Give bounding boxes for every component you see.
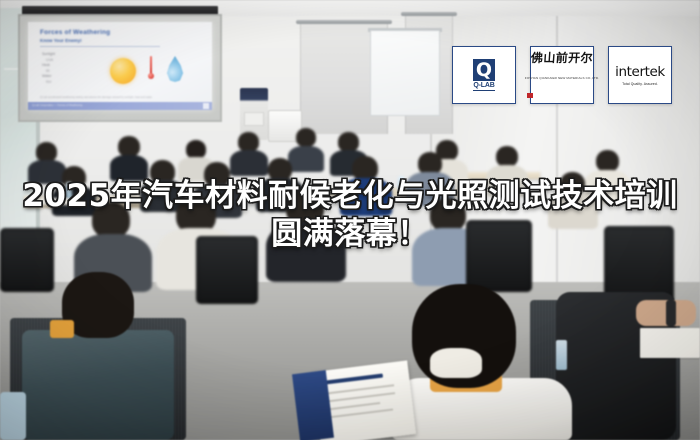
slide-page-number — [203, 103, 209, 109]
handout — [30, 198, 70, 205]
attendee-body — [22, 330, 174, 440]
q-lab-letter: Q — [476, 61, 492, 80]
handout — [640, 328, 700, 358]
handout — [306, 186, 350, 193]
logo-card-q-lab: Q Q-LAB — [452, 46, 516, 104]
water-drop-icon — [166, 56, 184, 82]
sun-icon — [110, 58, 136, 84]
attendee-body — [28, 160, 66, 184]
attendee-head — [338, 132, 359, 152]
office-chair — [466, 220, 532, 292]
slide-bullet: RH — [42, 80, 55, 86]
water-bottle — [66, 182, 72, 198]
wall-seam — [556, 0, 558, 300]
attendee-collar — [50, 320, 74, 338]
attendee-head — [496, 146, 518, 167]
attendee-head — [118, 136, 140, 157]
slide-title: Forces of Weathering — [40, 29, 110, 36]
slide-divider — [40, 46, 160, 47]
intertek-tagline: Total Quality. Assured. — [622, 82, 658, 86]
logo-card-foshan-qiankaier: 佛山前开尔 FOSHAN QIANKAIER NEW MATERIALS CO.… — [530, 46, 594, 104]
wristwatch — [666, 300, 676, 326]
dispenser-panel — [244, 112, 264, 126]
water-bottle — [556, 340, 567, 370]
qiankaier-wordmark-cn: 佛山前开尔 — [530, 49, 593, 66]
attendee-head — [296, 128, 316, 147]
whiteboard — [370, 30, 440, 116]
projected-slide: Forces of Weathering Know Your Enemy! Su… — [28, 22, 212, 110]
attendee-head — [92, 202, 130, 238]
attendee-body — [486, 165, 528, 197]
attendee-head — [238, 132, 259, 152]
office-chair — [196, 236, 258, 304]
water-bottle — [398, 176, 404, 192]
attendee-body — [340, 178, 392, 216]
attendee-head — [36, 142, 57, 162]
intertek-wordmark: intertek — [615, 64, 665, 80]
attendee-body — [230, 150, 268, 176]
attendee-body — [548, 193, 598, 229]
logo-card-intertek: intertek Total Quality. Assured. — [608, 46, 672, 104]
thermometer-icon — [148, 56, 154, 84]
qiankaier-wordmark-en: FOSHAN QIANKAIER NEW MATERIALS CO.,LTD. — [525, 76, 599, 80]
slide-subtitle: Know Your Enemy! — [40, 38, 82, 43]
partner-logo-strip: Q Q-LAB 佛山前开尔 FOSHAN QIANKAIER NEW MATER… — [452, 46, 672, 104]
slide-bullet: Sunlight — [42, 52, 55, 58]
q-lab-wordmark: Q-LAB — [473, 82, 494, 91]
office-chair — [0, 228, 54, 292]
blind-rail — [296, 20, 392, 24]
hair-tie — [430, 348, 482, 378]
slide-bullet-list: Sunlight UVA Heat IR Water RH — [42, 52, 55, 86]
attendee-head — [430, 198, 466, 232]
promo-banner: Forces of Weathering Know Your Enemy! Su… — [0, 0, 700, 440]
blind-rail — [401, 12, 457, 16]
attendee-body — [110, 155, 148, 181]
q-lab-mark-icon: Q — [473, 59, 495, 81]
seal-icon — [527, 93, 533, 98]
slide-footer-text: Q-Lab Corporation — Forces of Weathering — [32, 104, 82, 107]
slide-footer-bar: Q-Lab Corporation — Forces of Weathering — [28, 102, 212, 110]
slide-footnote: Q-Lab accelerated weathering testing rep… — [40, 96, 200, 99]
attendee-body — [288, 146, 324, 172]
attendee-head — [596, 150, 619, 172]
attendee-head — [286, 190, 324, 226]
attendee-body — [266, 222, 346, 282]
attendee-sleeve — [0, 392, 26, 440]
